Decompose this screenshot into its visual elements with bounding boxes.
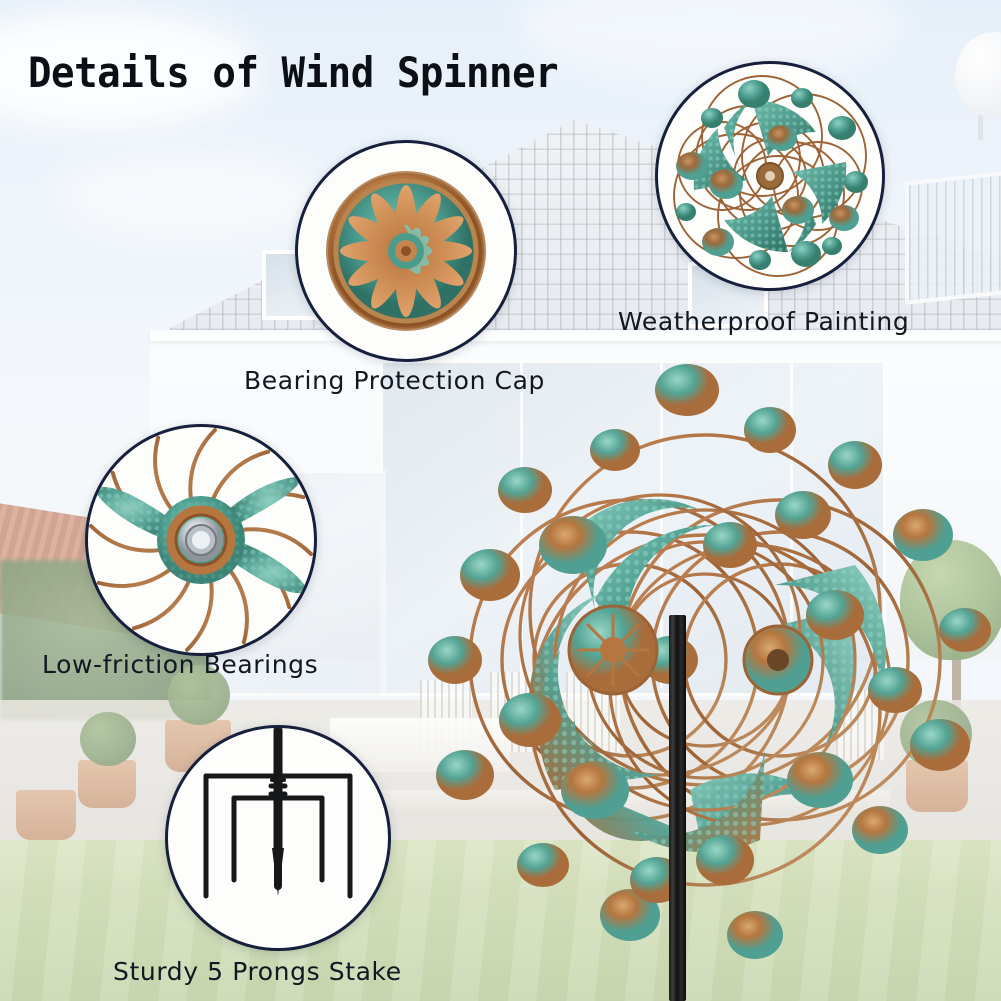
callout-label-low-friction-bearings: Low-friction Bearings bbox=[42, 650, 318, 679]
callout-label-sturdy-5-prongs-stake: Sturdy 5 Prongs Stake bbox=[113, 957, 402, 986]
page-title: Details of Wind Spinner bbox=[28, 48, 558, 97]
bearing-hub-icon bbox=[88, 427, 314, 653]
plant-pot bbox=[16, 790, 76, 840]
callout-weatherproof-painting[interactable] bbox=[655, 61, 885, 291]
topiary-plant bbox=[80, 712, 136, 766]
callout-bearing-protection-cap[interactable] bbox=[295, 140, 517, 362]
bearing-cap-medallion-icon bbox=[298, 143, 514, 359]
cloud bbox=[60, 150, 320, 240]
plant-pot bbox=[78, 760, 136, 808]
five-prong-stake-icon bbox=[168, 728, 388, 948]
wind-spinner-product bbox=[425, 360, 1001, 1001]
callout-label-bearing-protection-cap: Bearing Protection Cap bbox=[244, 366, 545, 395]
spinner-face-icon bbox=[658, 64, 882, 288]
callout-low-friction-bearings[interactable] bbox=[85, 424, 317, 656]
solar-panel bbox=[905, 168, 1001, 304]
infographic-canvas: Details of Wind Spinner bbox=[0, 0, 1001, 1001]
spinner-graphic bbox=[425, 360, 1001, 1001]
callout-sturdy-5-prongs-stake[interactable] bbox=[165, 725, 391, 951]
callout-label-weatherproof-painting: Weatherproof Painting bbox=[618, 307, 909, 336]
spinner-pole bbox=[669, 615, 686, 1001]
